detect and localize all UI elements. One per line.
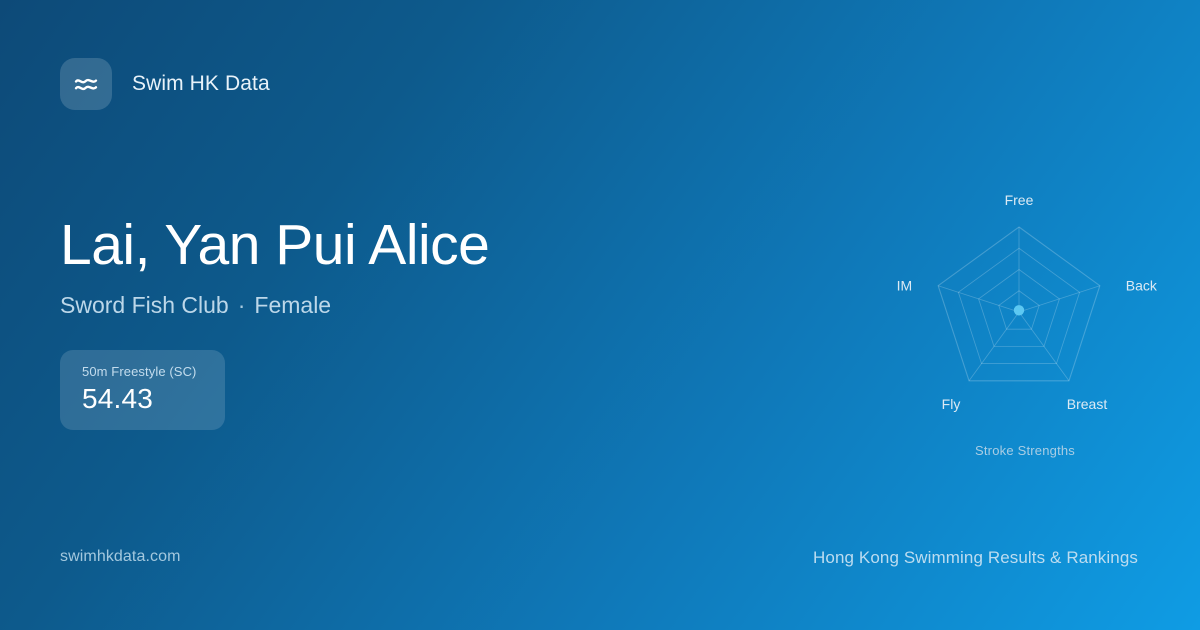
footer-tagline: Hong Kong Swimming Results & Rankings (813, 548, 1138, 568)
radar-axis-label-im: IM (897, 278, 913, 294)
brand-name: Swim HK Data (132, 72, 270, 96)
page-title: Lai, Yan Pui Alice (60, 216, 489, 276)
club-name: Sword Fish Club (60, 292, 229, 318)
radar-axis-label-breast: Breast (1067, 396, 1108, 412)
radar-axis-label-back: Back (1126, 278, 1158, 294)
stat-card-value: 54.43 (82, 383, 205, 415)
radar-axis-label-fly: Fly (942, 396, 961, 412)
radar-chart-caption: Stroke Strengths (880, 443, 1170, 458)
gender-label: Female (254, 292, 331, 318)
radar-chart: FreeBackBreastFlyIM Stroke Strengths (880, 175, 1170, 470)
radar-chart-svg: FreeBackBreastFlyIM (880, 175, 1170, 445)
stat-card-best-time[interactable]: 50m Freestyle (SC) 54.43 (60, 350, 225, 430)
stat-card-label: 50m Freestyle (SC) (82, 364, 205, 379)
athlete-meta: Sword Fish Club·Female (60, 292, 489, 319)
brand-logo[interactable]: Swim HK Data (60, 58, 270, 110)
hero-block: Lai, Yan Pui Alice Sword Fish Club·Femal… (60, 216, 489, 319)
wave-approx-icon (60, 58, 112, 110)
radar-axis-label-free: Free (1005, 192, 1034, 208)
meta-separator: · (229, 292, 255, 318)
footer-site-url: swimhkdata.com (60, 548, 181, 566)
